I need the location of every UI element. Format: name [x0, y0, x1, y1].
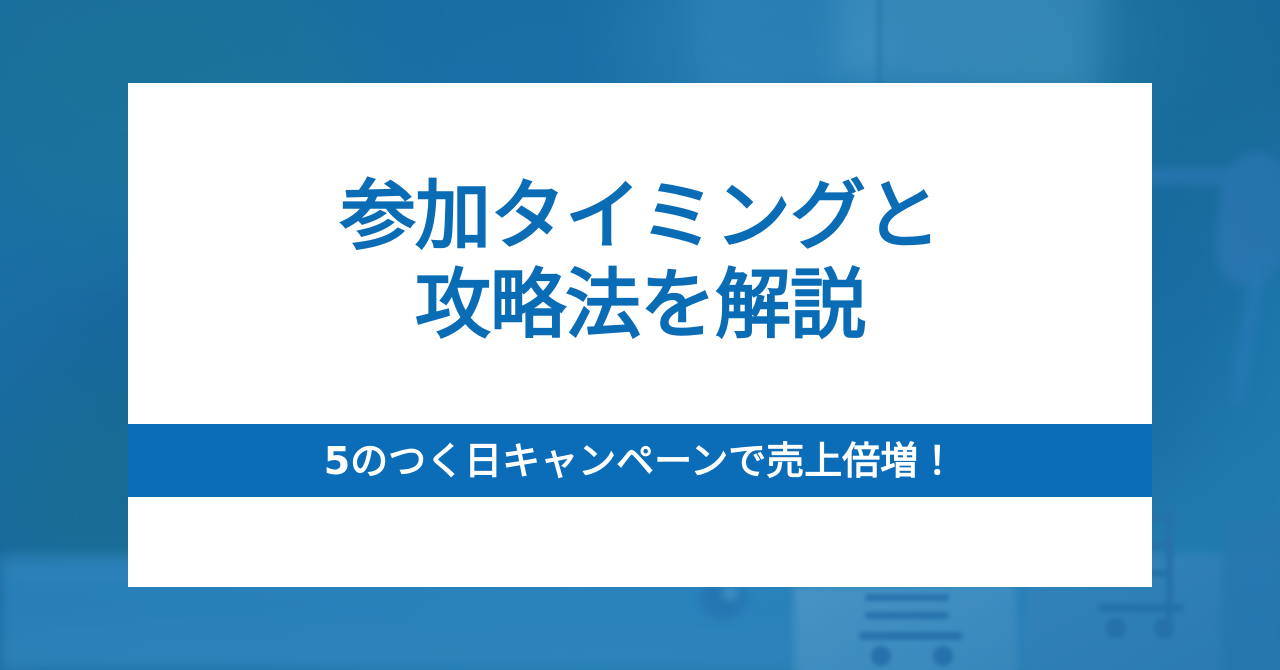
subtitle-banner: 5のつく日キャンペーンで売上倍増！ — [128, 424, 1152, 497]
title-area: 参加タイミングと 攻略法を解説 — [128, 83, 1152, 424]
card-footer-spacer — [128, 497, 1152, 587]
page-title-line-1: 参加タイミングと — [340, 172, 940, 260]
subtitle-text: 5のつく日キャンペーンで売上倍増！ — [324, 442, 957, 480]
eyecatch-canvas: 参加タイミングと 攻略法を解説 5のつく日キャンペーンで売上倍増！ — [0, 0, 1280, 670]
page-title-line-2: 攻略法を解説 — [415, 261, 865, 349]
content-card: 参加タイミングと 攻略法を解説 5のつく日キャンペーンで売上倍増！ — [128, 83, 1152, 587]
